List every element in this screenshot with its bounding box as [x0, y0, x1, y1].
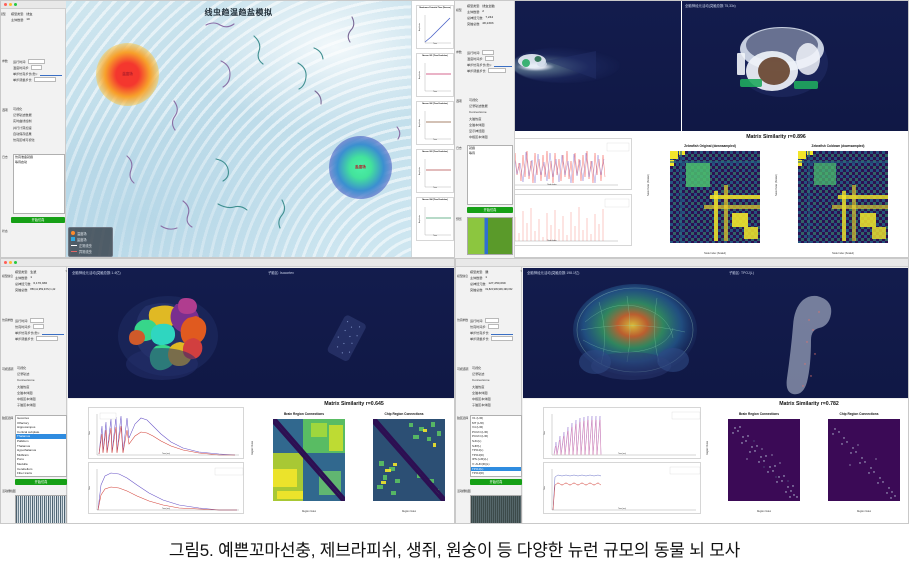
p1r-opt-6[interactable]: 中枢区本体图 — [469, 134, 513, 140]
p3-ts1-y: Rate — [89, 486, 91, 490]
p3-matrix-similarity-title: Matrix Similarity r=0.645 — [254, 401, 454, 407]
p2-matrix-1[interactable] — [798, 151, 888, 243]
p3-k2: 总神经元数: — [15, 281, 31, 286]
p1-miniplot-1[interactable]: Neuron 001 (Time Evolution) Time Amplitu… — [416, 53, 454, 97]
p4-raster-thumbnail[interactable] — [470, 495, 522, 524]
p4-options-label: 可视选项 — [457, 366, 468, 372]
p1r-log-label: 日志 — [456, 146, 461, 150]
p4-macaque-brain-render — [523, 268, 909, 398]
p1l-pf3[interactable] — [34, 77, 56, 82]
p2-matrix-1-ylabel: Node Index (Scaled) — [775, 174, 778, 196]
p1l-v1: 10 — [26, 17, 29, 21]
p3-thumb-label: 活动栅格图 — [2, 489, 16, 493]
p3-pf1[interactable] — [33, 324, 44, 329]
p4-run-button[interactable]: 开始仿真 — [470, 479, 522, 485]
p1l-run-button[interactable]: 开始仿真 — [11, 217, 65, 223]
p4-regions-label: 脑区选择 — [457, 416, 468, 420]
p1-left-sidebar[interactable]: 模型 模型类型: 线虫 主体数量: 10 参数 运行时间: 温度时间步: 单步仿… — [1, 9, 66, 258]
p1-mp3-y: Amplitude — [419, 167, 421, 175]
p3-pk2: 单步仿真步长(秒): — [15, 330, 40, 335]
p3-pf2[interactable] — [42, 330, 64, 335]
p2-matrix-1-xlabel: Node Index (Scaled) — [798, 252, 888, 255]
p1r-param-3[interactable]: 单步调整步长: — [467, 67, 513, 73]
p1r-options-label: 选项 — [456, 98, 462, 104]
p1r-v2: 7,244 — [485, 15, 493, 19]
p4-matrix-similarity-title: Matrix Similarity r=0.782 — [709, 401, 909, 407]
p4-ts1-x: Time (ms) — [544, 508, 700, 510]
p4-v1: 1 — [485, 275, 487, 279]
p1-miniplot-column: Membrane Potential Time (Neuron) Time Am… — [411, 1, 455, 258]
p4-matrix-1-title: Chip Region Connections — [811, 412, 907, 416]
p1l-pk1: 温度时间步: — [13, 65, 29, 70]
p1l-options-label: 选项 — [2, 107, 8, 113]
p1l-params-label: 参数 — [2, 59, 7, 63]
p4-matrix-0-title: Brain Region Connections — [711, 412, 807, 416]
p3-raster-thumbnail[interactable] — [15, 495, 67, 524]
p3-options-label: 可视选项 — [2, 366, 13, 372]
p1-mp2-y: Amplitude — [419, 119, 421, 127]
p4-params-group-label: 仿真参数 — [457, 318, 468, 322]
p1r-pk1: 温度时间步: — [467, 56, 483, 61]
p4-timeseries-1[interactable]: Time (ms) Rate — [543, 462, 701, 514]
p4-pk1: 仿真时间步: — [470, 324, 486, 329]
p3-v1: 1 — [30, 275, 32, 279]
p4-k2: 总神经元数: — [470, 281, 486, 286]
p3-matrix-0[interactable] — [273, 419, 345, 501]
p3-v0: 生鼠 — [30, 269, 36, 274]
p3-matrix-0-title: Brain Region Connections — [256, 412, 352, 416]
p3-timeseries-1[interactable]: Time (ms) Rate — [88, 462, 244, 514]
p1l-pk2: 单步仿真步长(秒): — [13, 71, 38, 76]
p3-window-controls[interactable] — [4, 261, 17, 264]
p3-v2: 6,176,936 — [33, 281, 47, 285]
p1r-pf3[interactable] — [488, 68, 506, 73]
p4-pk0: 运行时间: — [470, 318, 483, 323]
p3-pf0[interactable] — [30, 318, 44, 323]
p1-miniplot-4[interactable]: Neuron 004 (Time Evolution) Time Amplitu… — [416, 197, 454, 241]
p1r-run-button[interactable]: 开始仿真 — [467, 207, 513, 213]
p1r-log-1: 等待 — [468, 151, 512, 156]
p4-pk2: 单步仿真步长: — [470, 330, 489, 335]
figure-caption: 그림5. 예쁜꼬마선충, 제브라피쉬, 생쥐, 원숭이 등 다양한 뉴런 규모의… — [0, 528, 909, 568]
p1r-pf2[interactable] — [494, 62, 512, 67]
p1r-v0: 线虫全脑 — [482, 3, 494, 8]
p3-timeseries-0[interactable]: Time (ms) Rate — [88, 407, 244, 459]
p1r-row-3: 突触总数:48,1303 — [467, 20, 513, 26]
p4-timeseries-0[interactable]: Time (ms) Rate — [543, 407, 701, 459]
p1r-params-label: 参数 — [456, 50, 461, 54]
p1r-k0: 模型类型: — [467, 3, 480, 8]
p3-matrix-1-xlabel: Region Index — [373, 510, 445, 513]
p4-ts0-y: Rate — [544, 431, 546, 435]
p1r-pk0: 运行时间: — [467, 50, 480, 55]
p1l-param-2[interactable]: 单步仿真步长(秒): — [13, 70, 65, 76]
p1l-pk3: 单步调整步长: — [13, 77, 32, 82]
p1l-pf0[interactable] — [28, 59, 45, 64]
p1l-pf1[interactable] — [31, 65, 42, 70]
p4-pf2[interactable] — [491, 330, 513, 335]
p3-pk0: 运行时间: — [15, 318, 28, 323]
p1-mp4-x: Time — [417, 235, 453, 237]
panel-celegans-simulator[interactable]: 模型 模型类型: 线虫 主体数量: 10 参数 运行时间: 温度时间步: 单步仿… — [0, 0, 455, 258]
p4-v0: 猴 — [485, 269, 488, 274]
p4-region-list[interactable]: V1 (L/R) MT (L/R) V4 (L/R) PCUN (L/R) PC… — [470, 415, 522, 477]
p3-param-3[interactable]: 单步调整步长: — [15, 335, 67, 341]
p1-legend-label-0: 温度场 — [77, 231, 87, 236]
p1-worm-layer — [66, 1, 411, 258]
p3-k3: 突触总数: — [15, 287, 28, 292]
p1l-param-3[interactable]: 单步调整步长: — [13, 76, 65, 82]
p1-legend-item-1: 盐度场 — [71, 237, 110, 242]
p4-v2: 127,250,099 — [488, 281, 505, 285]
p3-ts0-x: Time (ms) — [89, 453, 243, 455]
p3-matrix-0-xlabel: Region Index — [273, 510, 345, 513]
p1-legend-label-2: 正常线虫 — [79, 243, 92, 248]
p2-analysis-area: Node Index Value — [456, 132, 909, 258]
p4-model-group-label: 模型信息 — [457, 274, 468, 278]
p1-legend: 温度场 盐度场 正常线虫 异常线虫 — [68, 227, 113, 257]
p4-analysis-area: Time (ms) Rate — [523, 399, 909, 524]
p1l-v0: 线虫 — [26, 11, 32, 16]
p3-pf3[interactable] — [36, 336, 58, 341]
p1-legend-item-0: 温度场 — [71, 231, 110, 236]
p1-mp3-x: Time — [417, 187, 453, 189]
p4-k1: 主体数量: — [470, 275, 483, 280]
panel-zebrafish-simulator[interactable]: 全脑神经元活动(突触总数:44,4xx) 全脑神经元活动(突触总数:75,33x… — [455, 0, 909, 258]
p3-regions-label: 脑区选择 — [2, 416, 13, 420]
p4-ts0-x: Time (ms) — [544, 453, 700, 455]
p1r-log-box[interactable]: 就绪 等待 — [467, 145, 513, 205]
p3-row-3: 突触总数:850,11,959,3372,1,42 — [15, 286, 67, 292]
p1r-thumb-label: 预览 — [456, 217, 461, 221]
p3-viewport[interactable]: 全脑神经元活动(突触总数:1.4亿) 子脑区: Isocortex — [68, 268, 454, 398]
p4-window-titlebar — [456, 259, 908, 267]
p1r-pf1[interactable] — [485, 56, 494, 61]
p3-matrix-1[interactable] — [373, 419, 445, 501]
p3-region-list[interactable]: Isocortex Olfactory Hippocampus Cortical… — [15, 415, 67, 477]
p1-mp1-x: Time — [417, 91, 453, 93]
p1r-v3: 48,1303 — [482, 21, 493, 25]
p1-mp1-y: Amplitude — [419, 71, 421, 79]
p1r-k3: 突触总数: — [467, 21, 480, 26]
panel-macaque-simulator[interactable]: 模型信息 模型类型:猴▾ 主体数量:1 总神经元数:127,250,099 突触… — [455, 258, 909, 524]
p3-region-13[interactable]: Ventricular — [16, 476, 66, 477]
p1-miniplot-0[interactable]: Membrane Potential Time (Neuron) Time Am… — [416, 5, 454, 49]
p3-model-group-label: 模型信息 — [2, 274, 13, 278]
p4-pf3[interactable] — [491, 336, 513, 341]
p3-opt-6[interactable]: 子脑区本体图 — [17, 402, 67, 408]
p3-params-group-label: 仿真参数 — [2, 318, 13, 322]
p2-matrix-0[interactable] — [670, 151, 760, 243]
p4-viewport[interactable]: 全脑神经元活动(突触总数:198.1亿) 子脑区: TPOJ(L) — [523, 268, 909, 398]
panel-mouse-simulator[interactable]: 模型信息 模型类型:生鼠▾ 主体数量:1 总神经元数:6,176,936 突触总… — [0, 258, 455, 524]
p1r-preview-thumbnail[interactable] — [467, 217, 513, 255]
p3-window-titlebar — [1, 259, 454, 267]
p2-matrix-1-title: Zebrafish Coldown (downsampled) — [776, 144, 900, 148]
p1l-model-group-label: 模型 — [0, 12, 5, 16]
p4-pk3: 单步调整步长: — [470, 336, 489, 341]
p3-ts0-y: Rate — [89, 431, 91, 435]
p2-matrix-0-ylabel: Node Index (Scaled) — [647, 174, 650, 196]
p1-miniplot-2[interactable]: Neuron 002 (Time Evolution) Time Amplitu… — [416, 101, 454, 145]
p4-sidebar[interactable]: 模型信息 模型类型:猴▾ 主体数量:1 总神经元数:127,250,099 突触… — [456, 267, 522, 524]
p1-legend-item-3: 异常线虫 — [71, 249, 110, 254]
p4-matrix-1[interactable] — [828, 419, 900, 501]
p1r-pf0[interactable] — [482, 50, 494, 55]
p2-matrix-similarity-title: Matrix Similarity r=0.896 — [646, 134, 906, 140]
p1-miniplot-3[interactable]: Neuron 003 (Time Evolution) Time Amplitu… — [416, 149, 454, 193]
p1-mp0-x: Time — [417, 43, 453, 45]
p1-legend-label-1: 盐度场 — [77, 237, 87, 242]
p1l-log-1: 等待启动 — [14, 160, 64, 165]
p3-ts1-x: Time (ms) — [89, 508, 243, 510]
p1l-opt-5[interactable]: 仿真区域可视化 — [13, 137, 65, 143]
p1l-pf2[interactable] — [40, 71, 62, 76]
p4-row-3: 突触总数:19,824,909,909,199,152 — [470, 286, 522, 292]
window-controls[interactable] — [4, 3, 17, 6]
p1r-pk2: 单步仿真步长(秒): — [467, 62, 492, 67]
p4-thumb-label: 活动栅格图 — [457, 489, 471, 493]
p1r-pk3: 单步调整步长: — [467, 68, 486, 73]
p3-matrix-1-title: Chip Region Connections — [356, 412, 452, 416]
p3-sidebar[interactable]: 模型信息 模型类型:生鼠▾ 主体数量:1 总神经元数:6,176,936 突触总… — [1, 267, 67, 524]
p1-mp2-x: Time — [417, 139, 453, 141]
p4-k0: 模型类型: — [470, 269, 483, 274]
p1r-param-2[interactable]: 单步仿真步长(秒): — [467, 61, 513, 67]
p3-v3: 850,11,959,3372,1,42 — [30, 288, 55, 291]
p4-matrix-1-xlabel: Region Index — [828, 510, 900, 513]
p4-v3: 19,824,909,909,199,152 — [485, 288, 512, 291]
p3-k0: 模型类型: — [15, 269, 28, 274]
p1l-footer-label: 状态 — [2, 229, 7, 233]
p4-param-3[interactable]: 单步调整步长: — [470, 335, 522, 341]
p2-viewport-right[interactable]: 全脑神经元活动(突触总数:75,33x) — [682, 1, 909, 131]
p1-right-sidebar-panel[interactable]: 模型 模型类型:线虫全脑 主体数量:2 总神经元数:7,244 突触总数:48,… — [455, 1, 515, 258]
p3-matrix-0-ylabel: Region Index — [251, 441, 254, 455]
p2-matrix-0-title: Zebrafish Original (downsampled) — [648, 144, 772, 148]
p1-mp0-y: Amplitude — [419, 23, 421, 31]
p3-param-2[interactable]: 单步仿真步长(秒): — [15, 329, 67, 335]
p4-pf0[interactable] — [485, 318, 499, 323]
p1l-row-count: 主体数量: 10 — [11, 16, 65, 22]
p1r-k2: 总神经元数: — [467, 15, 483, 20]
p1l-log-label: 日志 — [2, 155, 7, 159]
p1-mp4-y: Amplitude — [419, 215, 421, 223]
p1l-log-box[interactable]: 仿真准备就绪 等待启动 — [13, 154, 65, 214]
figure-root: 模型 模型类型: 线虫 主体数量: 10 参数 运行时间: 温度时间步: 单步仿… — [0, 0, 909, 583]
p4-matrix-0-ylabel: Region Index — [706, 441, 709, 455]
p3-run-button[interactable]: 开始仿真 — [15, 479, 67, 485]
p1l-pk0: 运行时间: — [13, 59, 26, 64]
p2-zebrafish-detail-right — [682, 1, 909, 131]
p3-k1: 主体数量: — [15, 275, 28, 280]
p4-region-13[interactable]: MTG(L) — [471, 476, 521, 477]
p4-matrix-0-xlabel: Region Index — [728, 510, 800, 513]
p1r-v1: 2 — [482, 9, 484, 13]
p1l-k0: 模型类型: — [11, 11, 24, 16]
p1r-k1: 主体数量: — [467, 9, 480, 14]
p3-analysis-area: Time (ms) Rate Time (ms) Rate — [68, 399, 454, 524]
p4-ts1-y: Rate — [544, 486, 546, 490]
p4-k3: 突触总数: — [470, 287, 483, 292]
p1-legend-label-3: 异常线虫 — [79, 249, 92, 254]
p3-mouse-brain-render — [68, 268, 454, 398]
p1r-model-group-label: 模型 — [456, 8, 461, 12]
p3-pk3: 单步调整步长: — [15, 336, 34, 341]
p4-pf1[interactable] — [488, 324, 499, 329]
p3-pk1: 仿真时间步: — [15, 324, 31, 329]
p2-matrix-0-xlabel: Node Index (Scaled) — [670, 252, 760, 255]
p4-matrix-0[interactable] — [728, 419, 800, 501]
p4-opt-6[interactable]: 子脑区本体图 — [472, 402, 522, 408]
p1-legend-item-2: 正常线虫 — [71, 243, 110, 248]
p1-simulation-canvas[interactable]: 线虫趋温趋盐模拟 温度场 盐度场 — [66, 1, 411, 258]
p1l-k1: 主体数量: — [11, 17, 24, 22]
